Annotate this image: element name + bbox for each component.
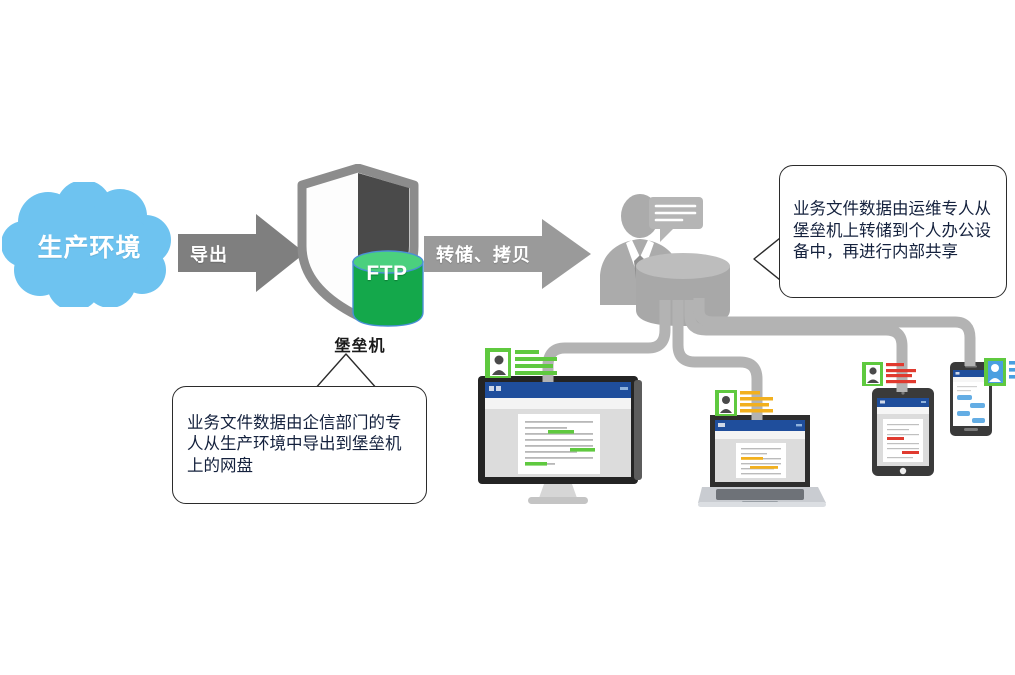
diagram-canvas: 生产环境 导出 FTP 堡垒机 转储、拷贝 (0, 0, 1015, 675)
user-card-icon (715, 390, 773, 416)
user-card-icon (984, 358, 1015, 386)
callout-left-text: 业务文件数据由企信部门的专人从生产环境中导出到堡垒机上的网盘 (187, 413, 412, 477)
user-card-phone (984, 358, 1015, 386)
user-card-desktop (485, 348, 557, 378)
callout-right-text: 业务文件数据由运维专人从堡垒机上转储到个人办公设备中，再进行内部共享 (793, 199, 993, 263)
user-card-tablet (862, 362, 916, 386)
connection-pipes (0, 0, 1015, 675)
callout-export-to-bastion: 业务文件数据由企信部门的专人从生产环境中导出到堡垒机上的网盘 (172, 386, 427, 504)
arrow-export-label: 导出 (190, 241, 228, 267)
arrow-transfer-label: 转储、拷贝 (436, 241, 531, 267)
user-card-icon (862, 362, 916, 386)
user-card-icon (485, 348, 557, 378)
user-card-laptop (715, 390, 773, 416)
cloud-label: 生产环境 (2, 228, 177, 264)
callout-transfer-to-devices: 业务文件数据由运维专人从堡垒机上转储到个人办公设备中，再进行内部共享 (779, 165, 1007, 298)
ftp-label: FTP (352, 262, 422, 286)
